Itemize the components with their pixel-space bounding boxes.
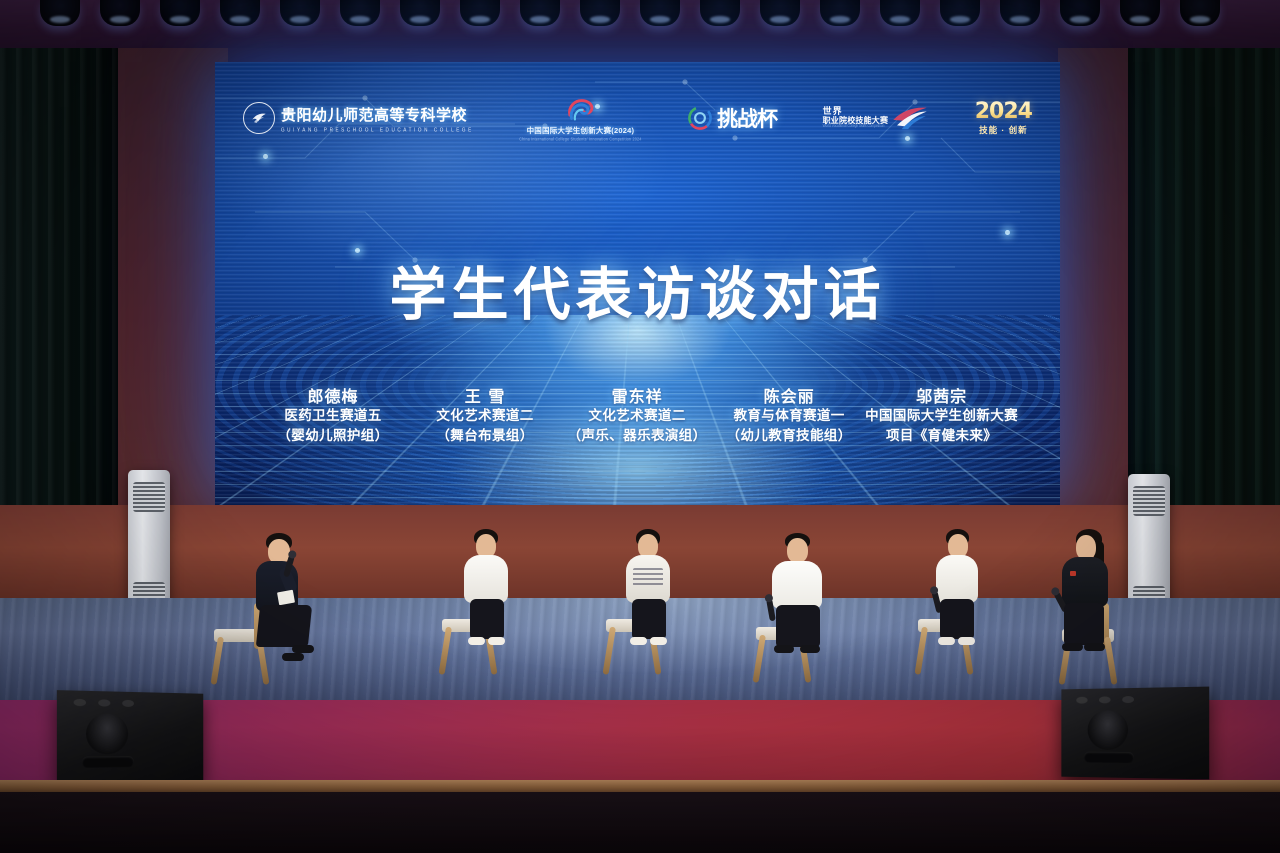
- speaker-name: 郎德梅: [257, 387, 409, 407]
- year-slogan: 技能 · 创新: [979, 124, 1028, 136]
- shoe: [292, 645, 314, 653]
- stage-monitor-speaker-left: [57, 690, 203, 784]
- innovation-competition-en: China International College Students' In…: [519, 136, 641, 141]
- shoe: [488, 637, 505, 645]
- stage-light-icon: [1180, 0, 1220, 26]
- stage-light-icon: [280, 0, 320, 26]
- challenge-cup-cn: 挑战杯: [717, 103, 777, 133]
- legs: [470, 599, 504, 639]
- wave-swirl-icon: [563, 96, 597, 124]
- seat-student-1: [436, 505, 546, 675]
- stage-light-icon: [1000, 0, 1040, 26]
- stage-light-icon: [160, 0, 200, 26]
- legs: [940, 599, 974, 639]
- torso-white-sweater: [464, 555, 508, 603]
- speaker-name: 王 雪: [409, 387, 561, 407]
- stage-light-icon: [40, 0, 80, 26]
- torso-white-top: [936, 555, 978, 603]
- stage-light-icon: [460, 0, 500, 26]
- stage-light-icon: [100, 0, 140, 26]
- seat-student-2: [600, 505, 710, 675]
- speaker-entry: 邬茜宗 中国国际大学生创新大赛 项目《育健未来》: [865, 387, 1018, 446]
- person-student-4: [926, 529, 996, 655]
- torso-white-shirt: [772, 561, 822, 609]
- legs: [1064, 603, 1104, 645]
- slide-headline: 学生代表访谈对话: [215, 267, 1060, 324]
- speaker-group: 项目《育健未来》: [865, 427, 1018, 447]
- logo-guiyang-college: 贵阳幼儿师范高等专科学校 GUIYANG PRESCHOOL EDUCATION…: [243, 102, 474, 134]
- stage-monitor-speaker-right: [1061, 687, 1209, 780]
- led-display-wall: 贵阳幼儿师范高等专科学校 GUIYANG PRESCHOOL EDUCATION…: [215, 62, 1060, 505]
- speaker-track: 文化艺术赛道二: [409, 407, 561, 427]
- college-crest-icon: [243, 102, 275, 134]
- person-student-3: [762, 533, 838, 665]
- speaker-entry: 陈会丽 教育与体育赛道一 （幼儿教育技能组）: [713, 387, 865, 446]
- orchestra-pit-shadow: [0, 792, 1280, 853]
- swoosh-bird-icon: [891, 105, 929, 131]
- shoe: [800, 645, 820, 653]
- speaker-track: 教育与体育赛道一: [713, 407, 865, 427]
- stage-light-icon: [220, 0, 260, 26]
- speaker-track: 文化艺术赛道二: [561, 407, 713, 427]
- stage-light-icon: [880, 0, 920, 26]
- seat-student-4: [910, 505, 1020, 675]
- stage-light-icon: [940, 0, 980, 26]
- cue-cards: [277, 590, 295, 606]
- speaker-track: 中国国际大学生创新大赛: [865, 407, 1018, 427]
- shoe: [938, 637, 955, 645]
- shoe: [774, 645, 794, 653]
- glow-dot-icon: [1005, 230, 1010, 235]
- stage-photo: 贵阳幼儿师范高等专科学校 GUIYANG PRESCHOOL EDUCATION…: [0, 0, 1280, 853]
- speaker-name: 陈会丽: [713, 387, 865, 407]
- year-number: 2024: [975, 101, 1032, 123]
- stage-light-icon: [1060, 0, 1100, 26]
- person-student-1: [454, 529, 524, 655]
- lapel-badge-icon: [1070, 571, 1076, 576]
- shoe: [282, 653, 304, 661]
- legs: [776, 605, 820, 647]
- glow-dot-icon: [355, 248, 360, 253]
- sponsor-logo-bar: 贵阳幼儿师范高等专科学校 GUIYANG PRESCHOOL EDUCATION…: [215, 88, 1060, 148]
- phoenix-crest-icon: [249, 108, 269, 128]
- stage-light-icon: [760, 0, 800, 26]
- seat-host: [214, 515, 344, 685]
- torso-dark-jacket: [1062, 557, 1108, 607]
- torso-printed-sweatshirt: [626, 555, 670, 603]
- college-name-cn: 贵阳幼儿师范高等专科学校: [281, 104, 474, 125]
- world-skills-en: World Vocational College Skills Competit…: [823, 125, 885, 129]
- college-name-block: 贵阳幼儿师范高等专科学校 GUIYANG PRESCHOOL EDUCATION…: [281, 104, 474, 132]
- shoe: [630, 637, 647, 645]
- person-student-5: [1054, 529, 1130, 665]
- logo-world-skills: 世界 职业院校技能大赛 World Vocational College Ski…: [823, 105, 930, 131]
- speaker-track: 医药卫生赛道五: [257, 407, 409, 427]
- person-student-2: [616, 529, 686, 655]
- speaker-group: （舞台布景组）: [409, 427, 561, 447]
- shoe: [468, 637, 485, 645]
- speaker-group: （婴幼儿照护组）: [257, 427, 409, 447]
- shoe: [1084, 643, 1105, 651]
- stage-light-icon: [400, 0, 440, 26]
- speaker-name: 邬茜宗: [865, 387, 1018, 407]
- stage-light-icon: [640, 0, 680, 26]
- shoe: [650, 637, 667, 645]
- stage-light-icon: [520, 0, 560, 26]
- shoe: [1062, 643, 1083, 651]
- stage-light-icon: [1120, 0, 1160, 26]
- innovation-competition-cn: 中国国际大学生创新大赛(2024): [527, 125, 635, 136]
- speaker-group: （声乐、器乐表演组）: [561, 427, 713, 447]
- world-skills-text: 世界 职业院校技能大赛 World Vocational College Ski…: [823, 107, 889, 128]
- legs: [256, 605, 312, 647]
- glow-dot-icon: [263, 154, 268, 159]
- speaker-entry: 王 雪 文化艺术赛道二 （舞台布景组）: [409, 387, 561, 446]
- seat-student-5: [1040, 505, 1160, 685]
- stage-light-icon: [340, 0, 380, 26]
- year-badge: 2024 技能 · 创新: [975, 101, 1032, 136]
- person-host: [238, 533, 318, 663]
- stage-light-icon: [580, 0, 620, 26]
- speaker-list: 郎德梅 医药卫生赛道五 （婴幼儿照护组） 王 雪 文化艺术赛道二 （舞台布景组）…: [215, 387, 1060, 446]
- stage-light-icon: [700, 0, 740, 26]
- legs: [632, 599, 666, 639]
- stage-light-icon: [820, 0, 860, 26]
- logo-challenge-cup: 挑战杯: [687, 103, 777, 133]
- shoe: [958, 637, 975, 645]
- college-name-en: GUIYANG PRESCHOOL EDUCATION COLLEGE: [281, 126, 474, 132]
- logo-innovation-competition: 中国国际大学生创新大赛(2024) China International Co…: [519, 96, 641, 141]
- truss-lamp-row: [0, 0, 1280, 40]
- lighting-truss: [0, 0, 1280, 48]
- seat-student-3: [748, 508, 868, 683]
- challenge-cup-swirl-icon: [687, 105, 713, 131]
- speaker-group: （幼儿教育技能组）: [713, 427, 865, 447]
- shirt-print: [633, 568, 663, 586]
- speaker-entry: 郎德梅 医药卫生赛道五 （婴幼儿照护组）: [257, 387, 409, 446]
- speaker-name: 雷东祥: [561, 387, 713, 407]
- speaker-entry: 雷东祥 文化艺术赛道二 （声乐、器乐表演组）: [561, 387, 713, 446]
- head: [787, 538, 808, 563]
